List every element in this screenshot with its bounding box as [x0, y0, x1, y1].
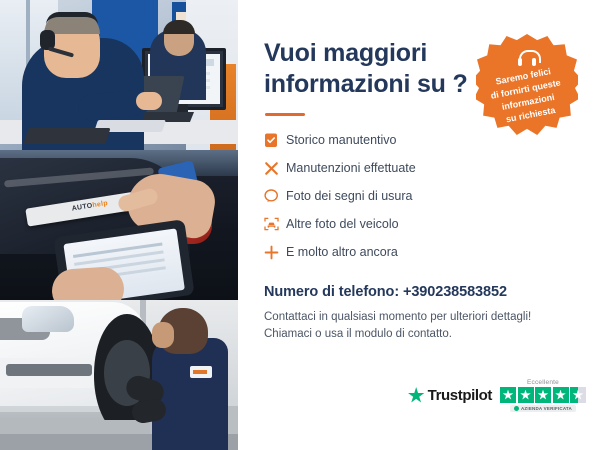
trustpilot-rating: Eccellente AZIENDA VERIFICATA: [500, 379, 586, 412]
photo-wheel-service: [0, 300, 238, 450]
trustpilot-wordmark: Trustpilot: [428, 387, 492, 404]
list-item-label: Foto dei segni di usura: [286, 189, 412, 203]
verified-check-icon: [514, 406, 519, 411]
rating-star-5-half: [570, 387, 586, 403]
callout-badge: Saremo felici di fornirti queste informa…: [476, 34, 578, 136]
list-item-label: Manutenzioni effettuate: [286, 161, 416, 175]
list-item: Manutenzioni effettuate: [264, 156, 600, 180]
verified-business-badge: AZIENDA VERIFICATA: [510, 405, 576, 412]
list-item: Foto dei segni di usura: [264, 184, 600, 208]
rating-star-3: [535, 387, 551, 403]
rating-star-4: [553, 387, 569, 403]
speech-bubble-icon: [264, 189, 286, 203]
headset-icon: [518, 50, 538, 67]
car-lower-grille-decor: [6, 364, 92, 376]
promo-banner: AUTOhelp: [0, 0, 600, 450]
rating-stars: [500, 387, 586, 403]
contact-subtext: Contattaci in qualsiasi momento per ulte…: [264, 309, 600, 344]
photo-column: AUTOhelp: [0, 0, 238, 450]
car-headlight-decor: [22, 306, 74, 332]
car-frame-icon: [264, 217, 286, 231]
headline-line-2: informazioni su ?: [264, 70, 468, 98]
headline-line-1: Vuoi maggiori: [264, 39, 427, 67]
rating-star-1: [500, 387, 516, 403]
title-underline-divider: [265, 113, 305, 116]
mechanic-face-decor: [152, 322, 174, 348]
phone-number-label: Numero di telefono: +390238583852: [264, 284, 600, 300]
list-item-label: E molto altro ancora: [286, 245, 398, 259]
page-title: Vuoi maggiori informazioni su ?: [264, 38, 479, 99]
agent-hand-decor: [136, 92, 162, 110]
trustpilot-widget[interactable]: Trustpilot Eccellente AZIENDA VERIFICATA: [408, 379, 586, 412]
list-item-label: Storico manutentivo: [286, 133, 396, 147]
photo-call-center: [0, 0, 238, 150]
verified-label: AZIENDA VERIFICATA: [521, 406, 572, 411]
list-item: Altre foto del veicolo: [264, 212, 600, 236]
desk-keyboard-decor: [23, 128, 110, 144]
content-panel: Vuoi maggiori informazioni su ? Storico …: [238, 0, 600, 450]
uniform-logo-patch-decor: [190, 366, 212, 378]
list-item: E molto altro ancora: [264, 240, 600, 264]
clipboard-check-icon: [264, 132, 286, 148]
trustpilot-logo: Trustpilot: [408, 387, 492, 404]
crossed-tools-icon: [264, 161, 286, 176]
contact-subtext-line-1: Contattaci in qualsiasi momento per ulte…: [264, 309, 600, 326]
contact-subtext-line-2: Chiamaci o usa il modulo di contatto.: [264, 326, 600, 343]
list-item-label: Altre foto del veicolo: [286, 217, 399, 231]
plus-icon: [264, 245, 286, 260]
trustpilot-star-icon: [408, 387, 425, 404]
rating-star-2: [518, 387, 534, 403]
photo-car-inspection: AUTOhelp: [0, 150, 238, 300]
feature-list: Storico manutentivo Manutenzioni effettu…: [264, 128, 600, 264]
rating-caption: Eccellente: [527, 379, 559, 386]
headset-band-decor: [46, 12, 98, 25]
